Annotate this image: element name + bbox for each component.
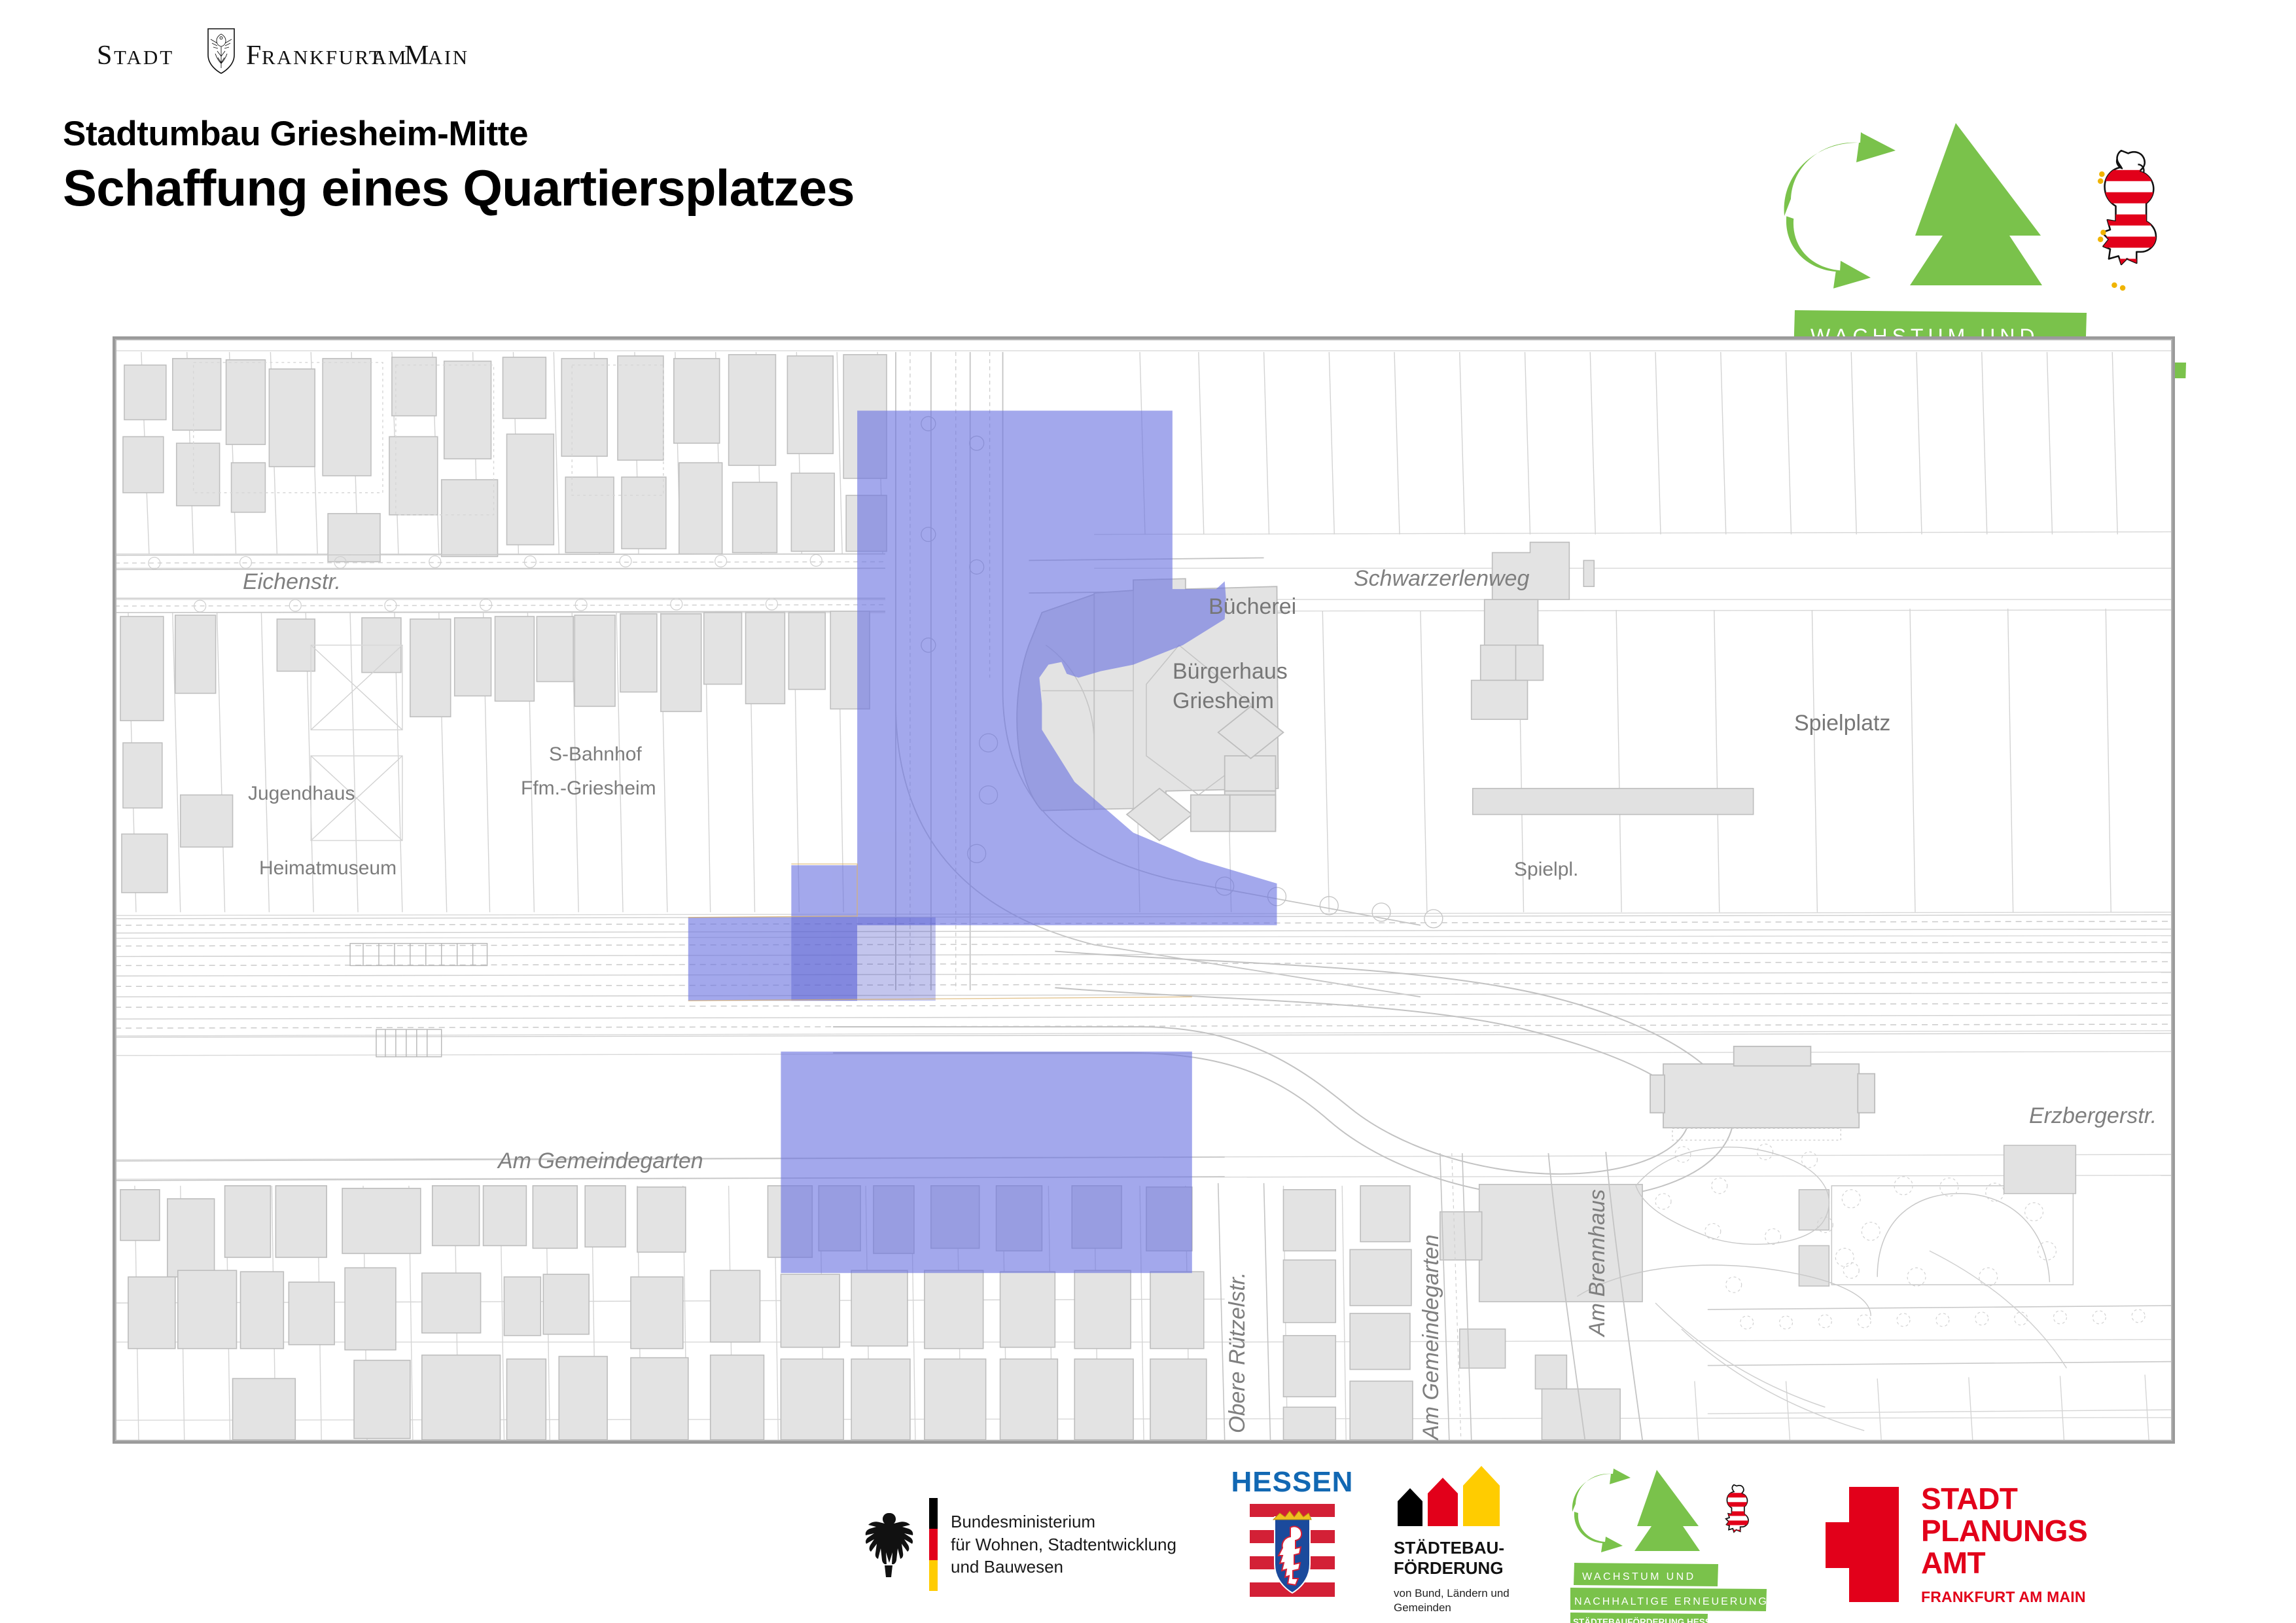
poster-page: S TADT F RANKFURT AM M AIN Stadtumbau Gr… bbox=[0, 0, 2296, 1623]
hessen-wordmark: HESSEN bbox=[1217, 1466, 1368, 1499]
highlight-overlap bbox=[791, 918, 935, 1001]
svg-text:F: F bbox=[246, 41, 261, 71]
federal-eagle-icon bbox=[861, 1503, 916, 1586]
house-icon-yellow bbox=[1463, 1466, 1500, 1526]
bmwsb-text: Bundesministerium für Wohnen, Stadtentwi… bbox=[951, 1510, 1176, 1578]
logo-hessen: HESSEN bbox=[1217, 1466, 1368, 1623]
staedtebau-title: STÄDTEBAU- FÖRDERUNG bbox=[1394, 1538, 1557, 1578]
spa-subline: FRANKFURT AM MAIN bbox=[1921, 1588, 2087, 1606]
staedtebau-title-l2: FÖRDERUNG bbox=[1394, 1558, 1557, 1578]
bmwsb-line1: Bundesministerium bbox=[951, 1510, 1176, 1533]
cadastral-map[interactable]: Eichenstr. Schwarzerlenweg Erzbergerstr.… bbox=[113, 336, 2175, 1444]
stadtplanungsamt-mark-icon bbox=[1826, 1487, 1899, 1602]
wne-line2: NACHHALTIGE ERNEUERUNG bbox=[1574, 1596, 1769, 1607]
bmwsb-line2: für Wohnen, Stadtentwicklung bbox=[951, 1533, 1176, 1556]
logo-bundesministerium: Bundesministerium für Wohnen, Stadtentwi… bbox=[857, 1466, 1197, 1623]
svg-text:TADT: TADT bbox=[114, 46, 174, 69]
map-drawing bbox=[115, 339, 2172, 1441]
hessen-coat-of-arms bbox=[1250, 1504, 1335, 1605]
wne-line1: WACHSTUM UND bbox=[1582, 1571, 1696, 1582]
footer-logo-strip: Bundesministerium für Wohnen, Stadtentwi… bbox=[0, 1466, 2296, 1623]
logo-staedtebaufoerderung: STÄDTEBAU- FÖRDERUNG von Bund, Ländern u… bbox=[1394, 1466, 1557, 1623]
highlight-area-south bbox=[781, 1052, 1192, 1273]
page-title: Schaffung eines Quartiersplatzes bbox=[63, 162, 855, 215]
house-icon-red bbox=[1428, 1478, 1458, 1526]
svg-text:RANKFURT: RANKFURT bbox=[262, 46, 383, 69]
house-icon-black bbox=[1398, 1488, 1422, 1526]
logo-wachstum-erneuerung-small: WACHSTUM UND NACHHALTIGE ERNEUERUNG STÄD… bbox=[1570, 1466, 1786, 1623]
wne-line3: STÄDTEBAUFÖRDERUNG HESSEN bbox=[1573, 1617, 1723, 1623]
spa-line-1: STADT bbox=[1921, 1483, 2087, 1515]
city-of-frankfurt-logo: S TADT F RANKFURT AM M AIN bbox=[97, 26, 516, 79]
project-subtitle: Stadtumbau Griesheim-Mitte bbox=[63, 116, 855, 151]
german-flag-bar bbox=[929, 1498, 938, 1591]
spa-line-3: AMT bbox=[1921, 1547, 2087, 1579]
staedtebau-sub-l1: von Bund, Ländern und bbox=[1394, 1586, 1557, 1601]
spa-line-2: PLANUNGS bbox=[1921, 1515, 2087, 1547]
logo-stadtplanungsamt: STADT PLANUNGS AMT FRANKFURT AM MAIN bbox=[1826, 1466, 2192, 1623]
svg-text:S: S bbox=[97, 41, 113, 71]
svg-text:M: M bbox=[404, 41, 429, 71]
staedtebau-sub-l2: Gemeinden bbox=[1394, 1601, 1557, 1615]
svg-text:AM: AM bbox=[372, 46, 408, 69]
title-block: Stadtumbau Griesheim-Mitte Schaffung ein… bbox=[63, 116, 855, 215]
staedtebau-subtitle: von Bund, Ländern und Gemeinden bbox=[1394, 1586, 1557, 1615]
bmwsb-line3: und Bauwesen bbox=[951, 1556, 1176, 1578]
staedtebau-title-l1: STÄDTEBAU- bbox=[1394, 1538, 1557, 1558]
house-icons bbox=[1394, 1466, 1557, 1526]
stadtplanungsamt-text: STADT PLANUNGS AMT FRANKFURT AM MAIN bbox=[1921, 1483, 2087, 1605]
svg-text:AIN: AIN bbox=[428, 46, 469, 69]
